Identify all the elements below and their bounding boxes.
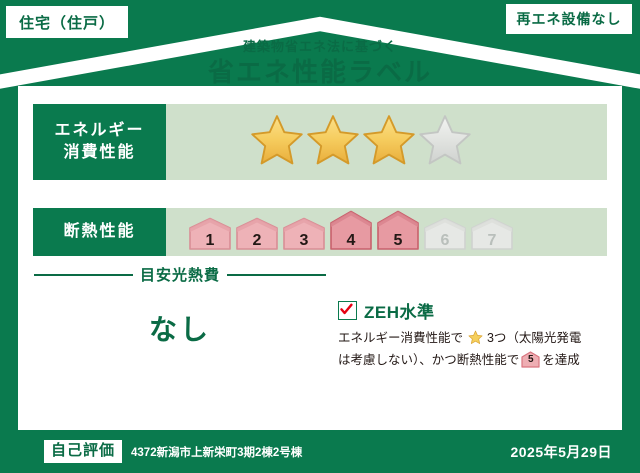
- house-icon-inactive: 6: [423, 217, 467, 255]
- row-label-energy-line2: 消費性能: [63, 142, 135, 164]
- utility-cost-value: なし: [34, 308, 326, 348]
- row-label-energy: エネルギー 消費性能: [33, 104, 166, 180]
- energy-performance-label: 住宅（住戸） 再エネ設備なし 建築物省エネ法に基づく 省エネ性能ラベル エネルギ…: [0, 0, 640, 473]
- row-label-energy-line1: エネルギー: [54, 120, 144, 142]
- house-icon: 5: [521, 351, 540, 368]
- divider-line-right: [227, 274, 326, 276]
- house-icon-active: 1: [188, 217, 232, 255]
- row-label-insulation: 断熱性能: [33, 208, 166, 256]
- tag-renewable-energy: 再エネ設備なし: [504, 2, 634, 36]
- zeh-description: エネルギー消費性能で 3つ（太陽光発電は考慮しない）、かつ断熱性能で 5 を達成: [338, 329, 592, 371]
- zeh-heading: ZEH水準: [338, 298, 592, 323]
- footer-bar: 自己評価 4372新潟市上新栄町3期2棟2号棟 2025年5月29日: [0, 430, 640, 473]
- star-icon: [464, 334, 486, 348]
- tag-building-type: 住宅（住戸）: [4, 4, 130, 40]
- insulation-level-scale: 1234567: [188, 210, 514, 255]
- zeh-desc-part3: を達成: [542, 353, 580, 367]
- utility-cost-heading: 目安光熱費: [34, 264, 326, 285]
- utility-cost-title: 目安光熱費: [140, 264, 220, 285]
- row-body-energy: [166, 104, 607, 180]
- house-icon-active: 3: [282, 217, 326, 255]
- house-icon-active: 5: [376, 210, 420, 255]
- issue-date: 2025年5月29日: [510, 442, 612, 462]
- star-icon-filled: [250, 113, 304, 172]
- property-address: 4372新潟市上新栄町3期2棟2号棟: [131, 444, 302, 460]
- row-body-insulation: 1234567: [166, 208, 607, 256]
- house-icon-inactive: 7: [470, 217, 514, 255]
- zeh-title: ZEH水準: [364, 298, 435, 323]
- star-icon-filled: [306, 113, 360, 172]
- row-insulation-performance: 断熱性能 1234567: [33, 208, 607, 256]
- star-icon-filled: [362, 113, 416, 172]
- check-icon: [338, 301, 357, 320]
- house-icon-active: 4: [329, 210, 373, 255]
- self-assessment-badge: 自己評価: [44, 440, 122, 462]
- house-number: 5: [521, 352, 540, 368]
- house-icon-active: 2: [235, 217, 279, 255]
- zeh-desc-part1: エネルギー消費性能で: [338, 331, 463, 345]
- star-icon-empty: [418, 113, 472, 172]
- row-energy-performance: エネルギー 消費性能: [33, 104, 607, 180]
- divider-line-left: [34, 274, 133, 276]
- zeh-block: ZEH水準 エネルギー消費性能で 3つ（太陽光発電は考慮しない）、かつ断熱性能で…: [338, 298, 592, 371]
- star-rating: [250, 113, 472, 172]
